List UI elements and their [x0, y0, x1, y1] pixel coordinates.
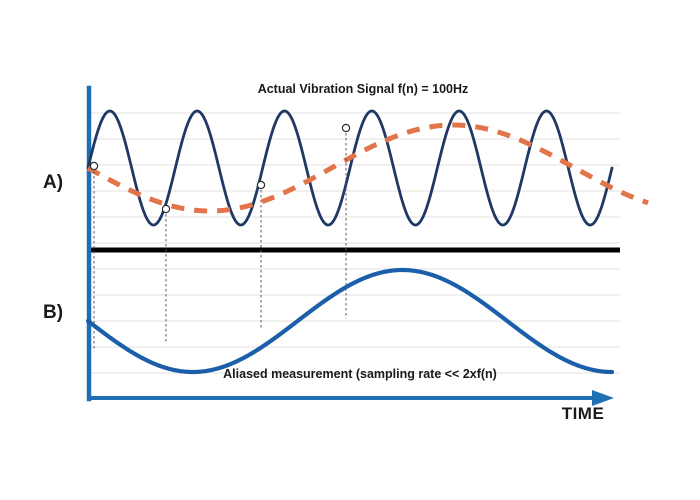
sample-point-marker — [90, 162, 97, 169]
sample-point-marker — [342, 124, 349, 131]
bottom-signal-caption: Aliased measurement (sampling rate << 2x… — [223, 367, 497, 381]
sample-point-marker — [257, 181, 264, 188]
panel-b-label: B) — [43, 302, 63, 323]
sample-point-marker — [162, 205, 169, 212]
x-axis-title: TIME — [562, 404, 605, 423]
aliasing-figure: A) B) Actual Vibration Signal f(n) = 100… — [0, 0, 700, 500]
panel-a-label: A) — [43, 172, 63, 193]
top-signal-caption: Actual Vibration Signal f(n) = 100Hz — [258, 82, 469, 96]
